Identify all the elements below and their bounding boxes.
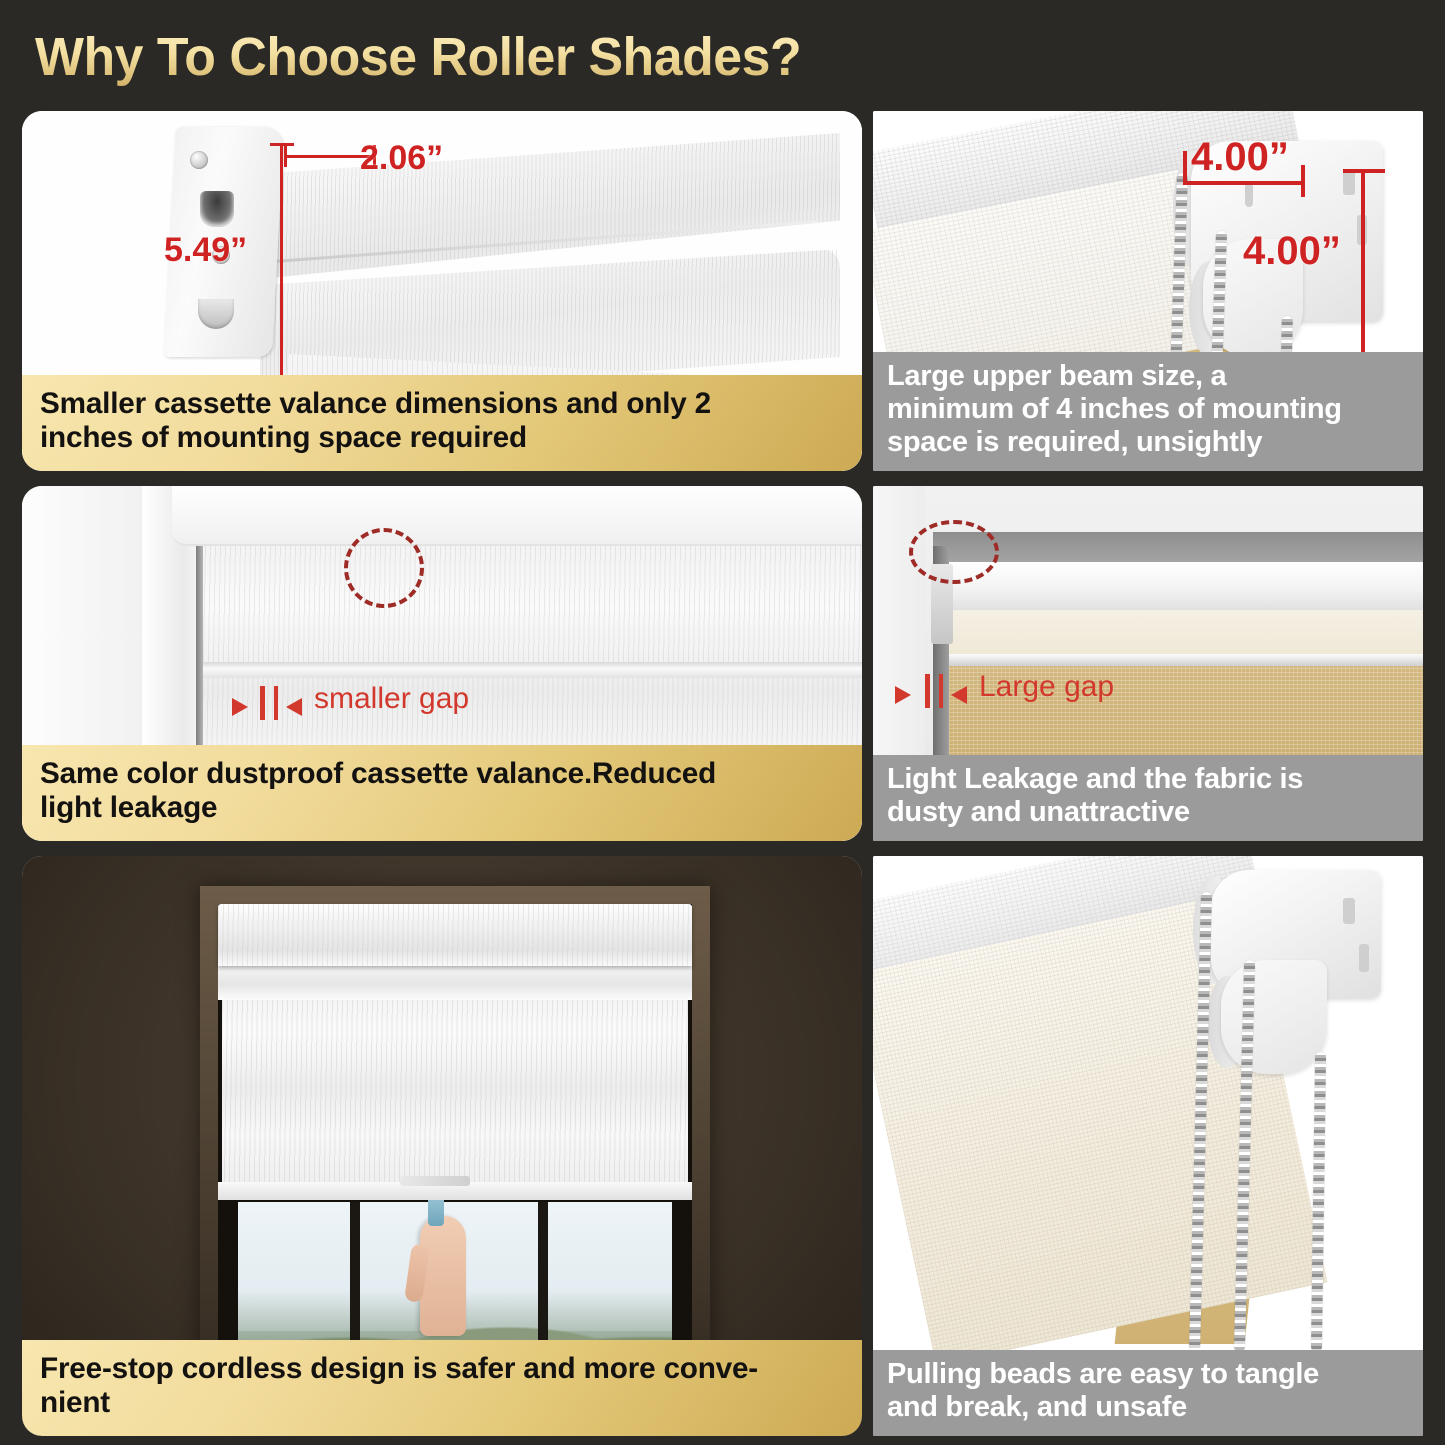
panel-large-upper-beam: 4.00” 4.00” Large upper beam size, a min… <box>873 111 1423 471</box>
beam-height-dimension-line <box>1361 169 1365 361</box>
large-gap-label: Large gap <box>979 670 1114 704</box>
gap-arrow-right-icon <box>232 698 248 716</box>
infographic-root: Why To Choose Roller Shades? 5.49” <box>0 0 1445 1445</box>
caption-line: dusty and unattractive <box>887 796 1411 829</box>
beam-width-dimension-label: 4.00” <box>1191 135 1289 180</box>
hand <box>420 1216 466 1336</box>
caption-line: Light Leakage and the fabric is <box>887 763 1411 796</box>
gap-arrow-right-icon <box>895 686 911 704</box>
caption-line: light leakage <box>40 791 838 825</box>
caption-cassette-valance-dimensions: Smaller cassette valance dimensions and … <box>22 375 862 471</box>
panel-grid: 5.49” 2.06” Smaller cassette valance dim… <box>0 103 1445 1445</box>
caption-free-stop-cordless-design: Free-stop cordless design is safer and m… <box>22 1340 862 1436</box>
caption-pulling-beads-unsafe: Pulling beads are easy to tangle and bre… <box>873 1350 1423 1436</box>
gap-arrow-left-icon <box>286 698 302 716</box>
panel-cassette-valance-dimensions: 5.49” 2.06” Smaller cassette valance dim… <box>22 111 862 471</box>
caption-line: Pulling beads are easy to tangle <box>887 1358 1411 1391</box>
caption-line: Smaller cassette valance dimensions and … <box>40 387 838 421</box>
panel-pulling-beads-unsafe: Pulling beads are easy to tangle and bre… <box>873 856 1423 1436</box>
caption-line: Same color dustproof cassette valance.Re… <box>40 757 838 791</box>
valance-slot <box>200 191 234 227</box>
page-title: Why To Choose Roller Shades? <box>35 22 995 92</box>
panel-light-leakage-dusty-fabric: Large gap Light Leakage and the fabric i… <box>873 486 1423 841</box>
caption-large-upper-beam: Large upper beam size, a minimum of 4 in… <box>873 352 1423 471</box>
panel-dustproof-cassette-valance: smaller gap Same color dustproof cassett… <box>22 486 862 841</box>
width-dimension-label: 2.06” <box>360 139 443 178</box>
caption-dustproof-cassette-valance: Same color dustproof cassette valance.Re… <box>22 745 862 841</box>
cassette-valance <box>218 904 692 966</box>
caption-line: Large upper beam size, a <box>887 360 1411 393</box>
beam-width-dimension-line <box>1183 181 1305 185</box>
caption-line: nient <box>40 1386 838 1420</box>
gap-arrow-left-icon <box>951 686 967 704</box>
caption-line: space is required, unsightly <box>887 426 1411 459</box>
highlight-circle-icon <box>344 528 424 608</box>
caption-light-leakage-dusty-fabric: Light Leakage and the fabric is dusty an… <box>873 755 1423 841</box>
caption-line: inches of mounting space required <box>40 421 838 455</box>
caption-line: minimum of 4 inches of mounting <box>887 393 1411 426</box>
height-dimension-label: 5.49” <box>164 231 247 270</box>
caption-line: Free-stop cordless design is safer and m… <box>40 1352 838 1386</box>
smaller-gap-label: smaller gap <box>314 682 469 716</box>
caption-line: and break, and unsafe <box>887 1391 1411 1424</box>
highlight-circle-icon <box>909 520 999 584</box>
beam-height-dimension-label: 4.00” <box>1243 229 1341 274</box>
panel-free-stop-cordless-design: Free-stop cordless design is safer and m… <box>22 856 862 1436</box>
height-dimension-line <box>280 143 283 395</box>
